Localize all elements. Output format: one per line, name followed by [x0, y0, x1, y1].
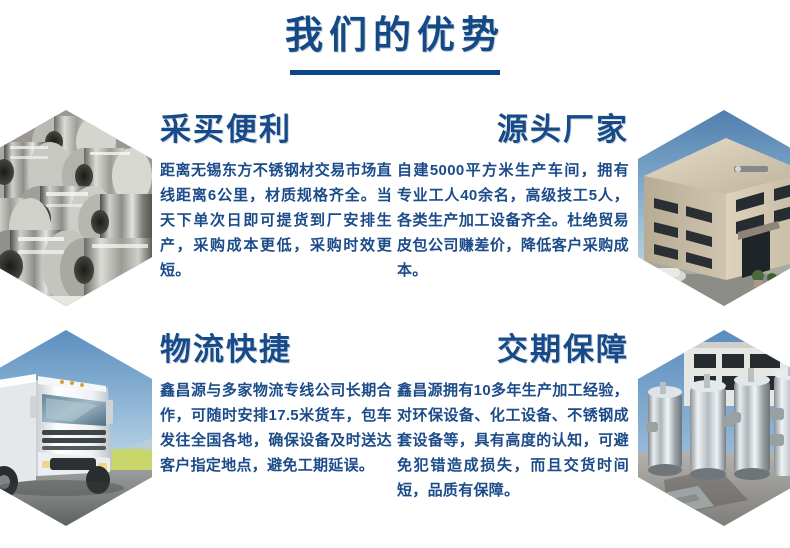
feature-body: 鑫昌源拥有10多年生产加工经验，对环保设备、化工设备、不锈钢成套设备等，具有高度…	[397, 378, 629, 503]
feature-heading: 交期保障	[397, 332, 629, 368]
feature-heading: 源头厂家	[397, 112, 629, 148]
page-title: 我们的优势	[0, 12, 790, 60]
feature-body: 距离无锡东方不锈钢材交易市场直线距离6公里，材质规格齐全。当天下单次日即可提货到…	[160, 158, 392, 283]
feature-body: 自建5000平方米生产车间，拥有专业工人40余名，高级技工5人，各类生产加工设备…	[397, 158, 629, 283]
feature-copy: 物流快捷 鑫昌源与多家物流专线公司长期合作，可随时安排17.5米货车，包车发往全…	[160, 332, 392, 478]
feature-copy: 源头厂家 自建5000平方米生产车间，拥有专业工人40余名，高级技工5人，各类生…	[397, 112, 629, 283]
feature-card-procurement-convenience: 采买便利 距离无锡东方不锈钢材交易市场直线距离6公里，材质规格齐全。当天下单次日…	[0, 96, 395, 318]
delivery-truck-illustration	[0, 330, 152, 526]
steel-coils-photo	[0, 110, 152, 306]
feature-heading: 物流快捷	[160, 332, 392, 368]
stainless-tanks-illustration	[638, 330, 790, 526]
feature-copy: 交期保障 鑫昌源拥有10多年生产加工经验，对环保设备、化工设备、不锈钢成套设备等…	[397, 332, 629, 503]
page-title-block: 我们的优势	[0, 12, 790, 75]
title-underline	[290, 70, 500, 75]
advantages-page: 我们的优势	[0, 0, 790, 548]
feature-card-fast-logistics: 物流快捷 鑫昌源与多家物流专线公司长期合作，可随时安排17.5米货车，包车发往全…	[0, 316, 395, 538]
factory-building-photo	[638, 110, 790, 306]
feature-copy: 采买便利 距离无锡东方不锈钢材交易市场直线距离6公里，材质规格齐全。当天下单次日…	[160, 112, 392, 283]
delivery-truck-photo	[0, 330, 152, 526]
feature-card-source-factory: 源头厂家 自建5000平方米生产车间，拥有专业工人40余名，高级技工5人，各类生…	[395, 96, 790, 318]
steel-coils-illustration	[0, 110, 152, 306]
feature-heading: 采买便利	[160, 112, 392, 148]
stainless-tanks-photo	[638, 330, 790, 526]
feature-body: 鑫昌源与多家物流专线公司长期合作，可随时安排17.5米货车，包车发往全国各地，确…	[160, 378, 392, 478]
factory-building-illustration	[638, 110, 790, 306]
feature-card-delivery-guarantee: 交期保障 鑫昌源拥有10多年生产加工经验，对环保设备、化工设备、不锈钢成套设备等…	[395, 316, 790, 538]
features-grid: 采买便利 距离无锡东方不锈钢材交易市场直线距离6公里，材质规格齐全。当天下单次日…	[0, 88, 790, 548]
